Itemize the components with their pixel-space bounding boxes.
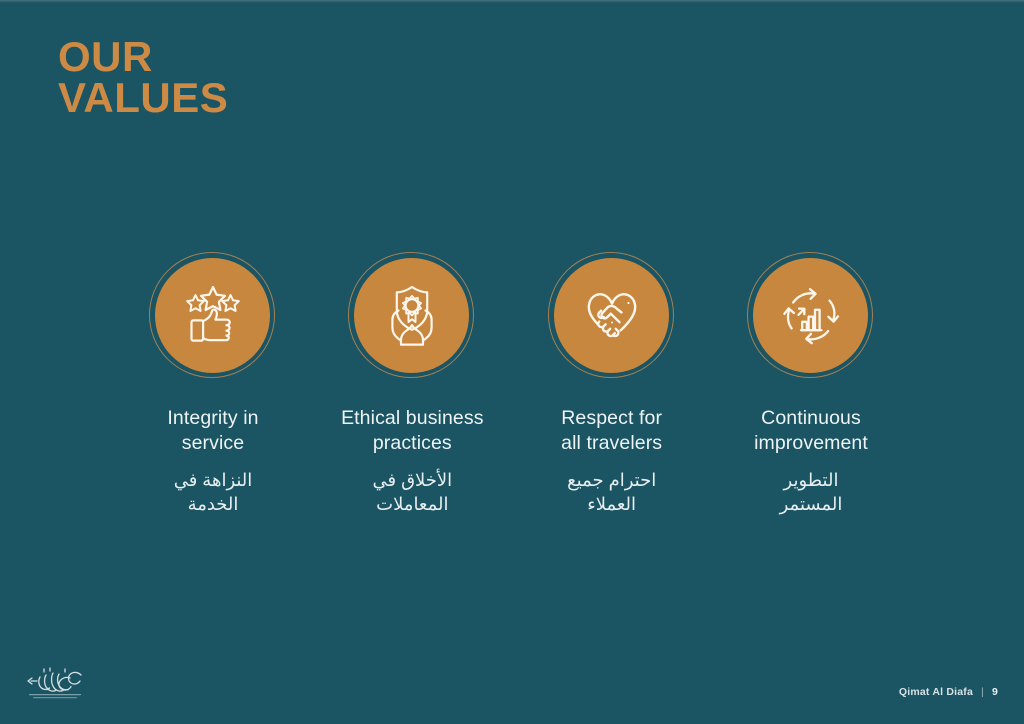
page-top-edge <box>0 0 1024 3</box>
handshake-heart-icon <box>577 281 647 351</box>
cycle-growth-chart-icon <box>776 281 846 351</box>
value-label-en: Continuous improvement <box>754 406 868 455</box>
value-item-integrity[interactable]: Integrity in service النزاهة في الخدمة <box>117 252 309 516</box>
hands-shield-award-icon <box>377 281 447 351</box>
values-row: Integrity in service النزاهة في الخدمة <box>117 252 907 516</box>
value-badge <box>348 252 476 380</box>
qimat-al-diafa-logo <box>22 664 88 704</box>
page-number: 9 <box>992 686 998 698</box>
value-label-ar: التطوير المستمر <box>780 469 843 516</box>
page-title: OUR VALUES <box>58 36 478 118</box>
value-item-continuous-improvement[interactable]: Continuous improvement التطوير المستمر <box>715 252 907 516</box>
value-label-ar: الأخلاق في المعاملات <box>372 469 452 516</box>
value-label-en: Integrity in service <box>167 406 258 455</box>
slide: OUR VALUES <box>0 0 1024 724</box>
value-item-ethical-business[interactable]: Ethical business practices الأخلاق في ال… <box>316 252 508 516</box>
value-badge <box>747 252 875 380</box>
value-badge <box>548 252 676 380</box>
value-badge <box>149 252 277 380</box>
footer-brand: Qimat Al Diafa <box>899 686 973 698</box>
value-label-en: Ethical business practices <box>341 406 484 455</box>
thumbs-up-stars-icon <box>178 281 248 351</box>
value-label-ar: النزاهة في الخدمة <box>174 469 253 516</box>
value-label-ar: احترام جميع العملاء <box>567 469 656 516</box>
footer-meta: Qimat Al Diafa | 9 <box>899 686 998 698</box>
value-item-respect[interactable]: Respect for all travelers احترام جميع ال… <box>516 252 708 516</box>
footer-separator: | <box>981 686 984 698</box>
value-label-en: Respect for all travelers <box>561 406 662 455</box>
